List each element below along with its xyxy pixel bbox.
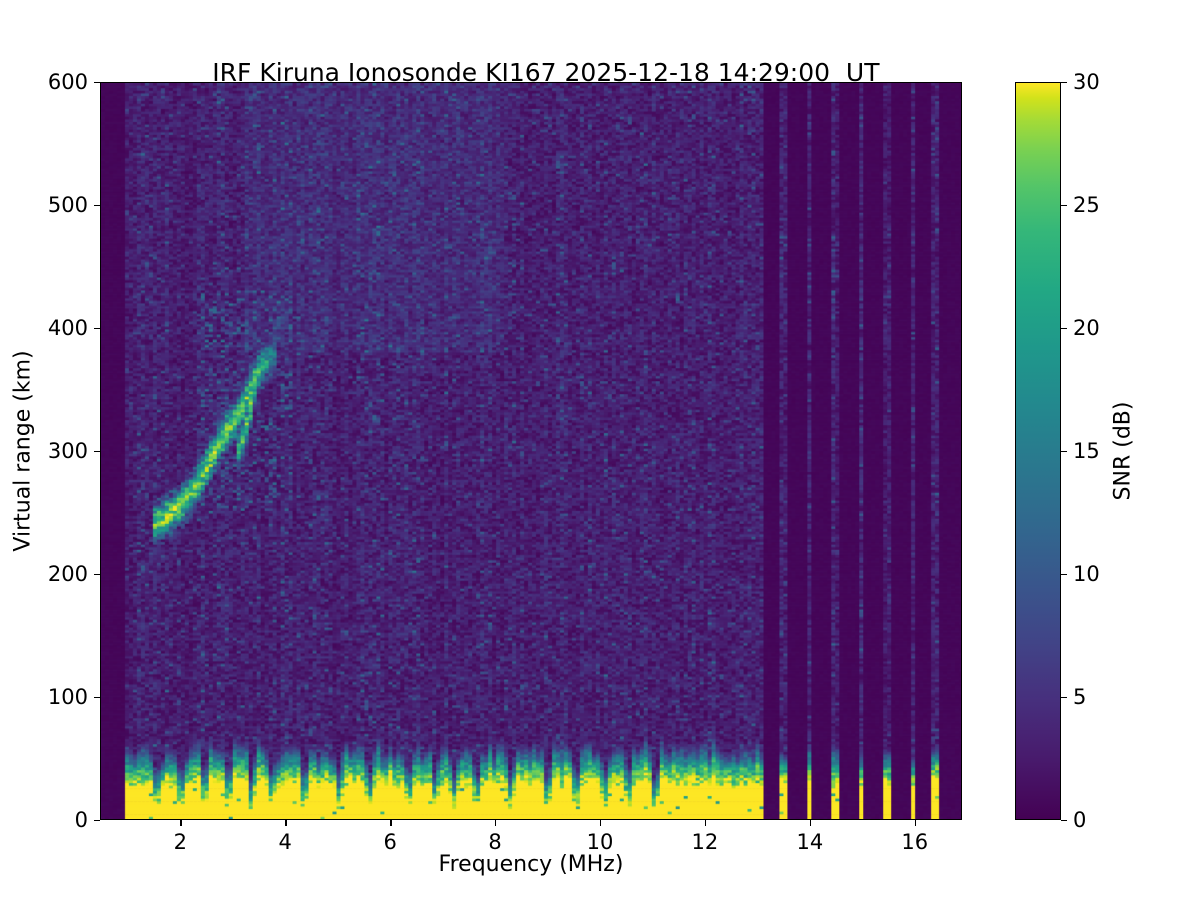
- colorbar-label-text: SNR (dB): [1111, 402, 1136, 501]
- y-tick-label: 500: [48, 193, 88, 217]
- y-tick-label: 100: [48, 685, 88, 709]
- x-tick-label: 14: [796, 830, 823, 854]
- y-tick: [94, 205, 100, 206]
- colorbar-tick: [1061, 820, 1067, 821]
- x-tick: [810, 820, 811, 826]
- colorbar-tick-label: 20: [1073, 316, 1100, 340]
- x-tick: [390, 820, 391, 826]
- colorbar-tick: [1061, 451, 1067, 452]
- x-tick: [915, 820, 916, 826]
- colorbar-tick: [1061, 574, 1067, 575]
- colorbar-tick: [1061, 82, 1067, 83]
- y-tick: [94, 574, 100, 575]
- y-axis-label: Virtual range (km): [8, 82, 38, 820]
- y-tick: [94, 82, 100, 83]
- x-tick-label: 16: [901, 830, 928, 854]
- colorbar-tick-label: 10: [1073, 562, 1100, 586]
- colorbar-tick-label: 0: [1073, 808, 1086, 832]
- x-tick-label: 12: [692, 830, 719, 854]
- y-tick-label: 0: [75, 808, 88, 832]
- ionogram-axes[interactable]: [100, 82, 962, 820]
- colorbar-tick-label: 5: [1073, 685, 1086, 709]
- y-tick: [94, 697, 100, 698]
- x-tick: [285, 820, 286, 826]
- y-tick-label: 200: [48, 562, 88, 586]
- x-tick-label: 8: [488, 830, 501, 854]
- y-tick-label: 300: [48, 439, 88, 463]
- x-tick: [180, 820, 181, 826]
- colorbar-tick-label: 25: [1073, 193, 1100, 217]
- x-tick-label: 6: [383, 830, 396, 854]
- x-tick-label: 10: [587, 830, 614, 854]
- y-tick: [94, 328, 100, 329]
- x-tick-label: 2: [174, 830, 187, 854]
- colorbar-tick: [1061, 205, 1067, 206]
- colorbar[interactable]: [1015, 82, 1061, 820]
- colorbar-tick: [1061, 697, 1067, 698]
- x-tick: [495, 820, 496, 826]
- y-tick: [94, 451, 100, 452]
- colorbar-tick-label: 30: [1073, 70, 1100, 94]
- colorbar-label: SNR (dB): [1108, 82, 1138, 820]
- x-axis-label: Frequency (MHz): [100, 852, 962, 877]
- colorbar-tick: [1061, 328, 1067, 329]
- y-tick: [94, 820, 100, 821]
- ionogram-figure: IRF Kiruna Ionosonde KI167 2025-12-18 14…: [0, 0, 1200, 900]
- x-tick: [705, 820, 706, 826]
- y-tick-label: 400: [48, 316, 88, 340]
- y-tick-label: 600: [48, 70, 88, 94]
- x-tick-label: 4: [279, 830, 292, 854]
- x-tick: [600, 820, 601, 826]
- y-axis-label-text: Virtual range (km): [11, 350, 36, 551]
- ionogram-heatmap[interactable]: [101, 83, 961, 819]
- colorbar-tick-label: 15: [1073, 439, 1100, 463]
